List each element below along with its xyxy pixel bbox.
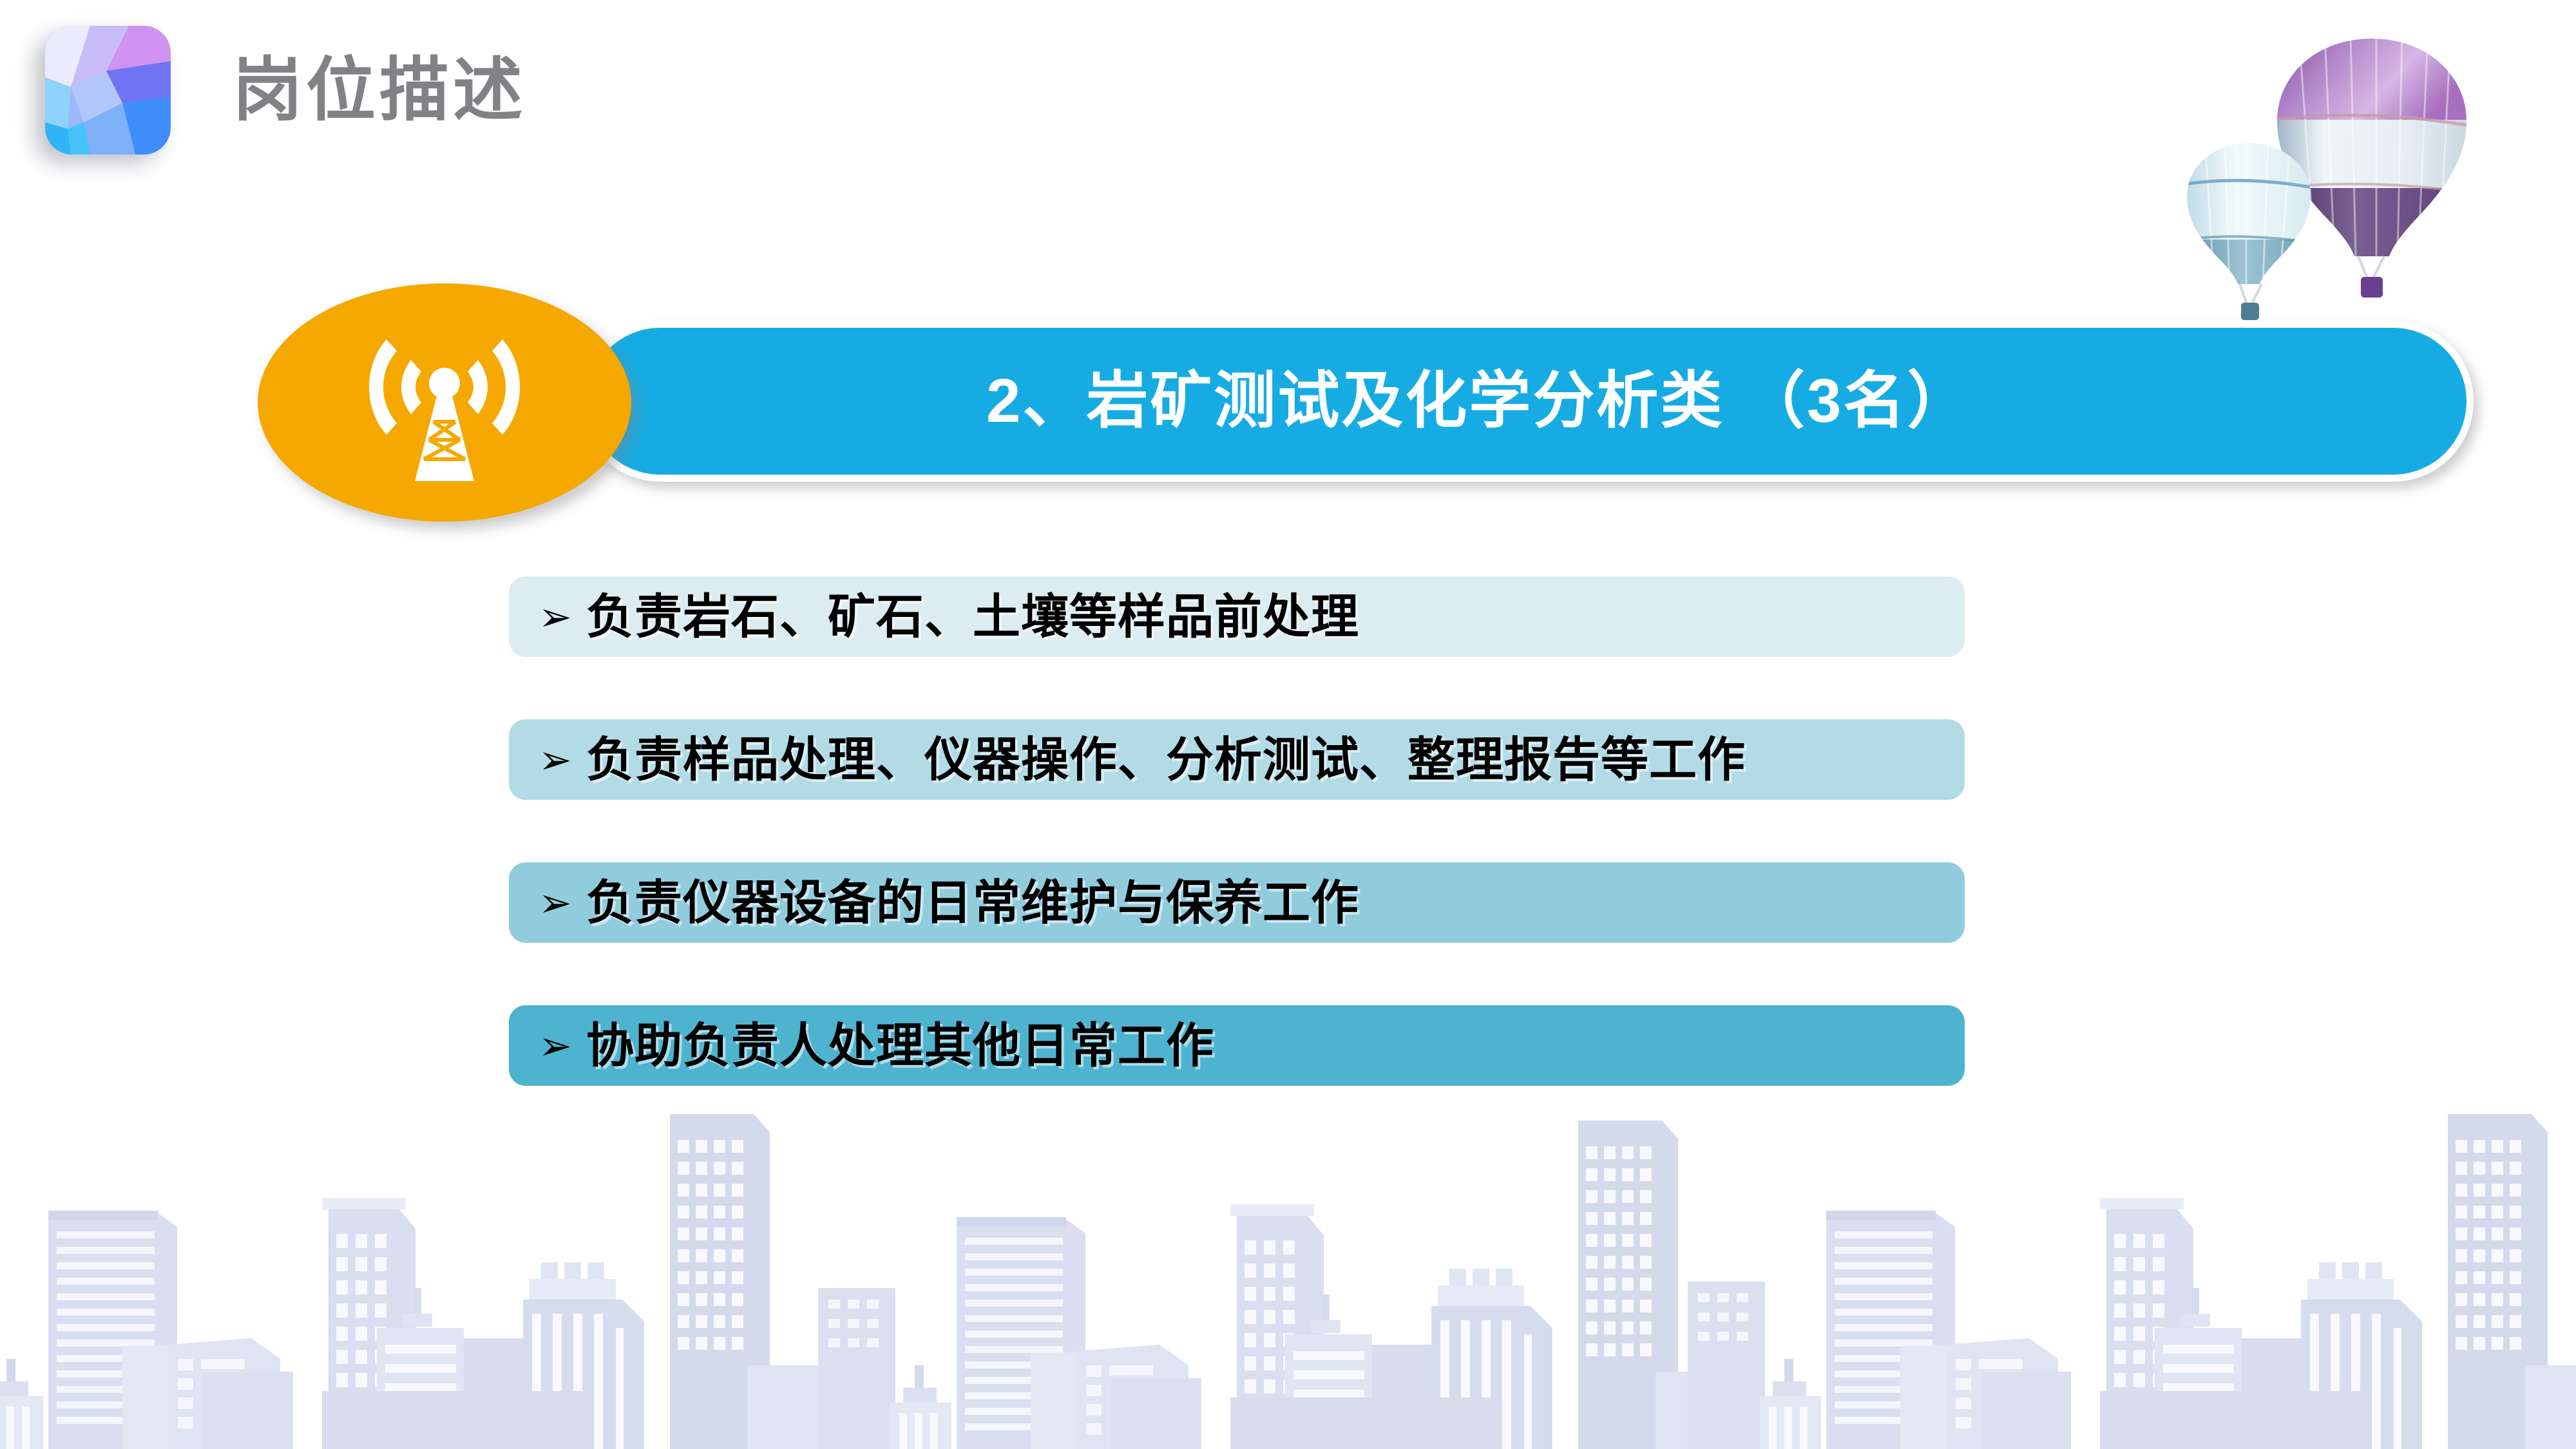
banner-bar[interactable]: 2、岩矿测试及化学分析类 （3名） <box>580 321 2474 482</box>
bullet-arrow-icon: ➢ <box>524 1026 586 1066</box>
list-item[interactable]: ➢ 协助负责人处理其他日常工作 <box>509 1005 1965 1086</box>
list-item[interactable]: ➢ 负责仪器设备的日常维护与保养工作 <box>509 862 1965 943</box>
slide-header: 岗位描述 <box>45 26 526 155</box>
page-title: 岗位描述 <box>233 55 526 125</box>
banner-title: 2、岩矿测试及化学分析类 （3名） <box>986 370 1970 432</box>
list-item-label: 协助负责人处理其他日常工作 <box>586 1022 1214 1070</box>
bullet-arrow-icon: ➢ <box>524 740 586 780</box>
list-item[interactable]: ➢ 负责样品处理、仪器操作、分析测试、整理报告等工作 <box>509 719 1965 800</box>
banner-badge <box>258 283 631 522</box>
list-item-label: 负责岩石、矿石、土壤等样品前处理 <box>586 593 1359 641</box>
broadcast-tower-icon <box>348 306 541 499</box>
list-item-label: 负责仪器设备的日常维护与保养工作 <box>586 879 1359 927</box>
list-item-label: 负责样品处理、仪器操作、分析测试、整理报告等工作 <box>586 736 1746 784</box>
city-skyline-icon <box>0 1088 2576 1449</box>
bullet-arrow-icon: ➢ <box>524 883 586 923</box>
bullet-list: ➢ 负责岩石、矿石、土壤等样品前处理 ➢ 负责样品处理、仪器操作、分析测试、整理… <box>509 576 1965 1086</box>
bullet-arrow-icon: ➢ <box>524 597 586 637</box>
list-item[interactable]: ➢ 负责岩石、矿石、土壤等样品前处理 <box>509 576 1965 657</box>
section-banner: 2、岩矿测试及化学分析类 （3名） <box>258 283 2261 522</box>
slide-canvas: 岗位描述 <box>0 0 2576 1449</box>
gradient-polygon-app-icon <box>45 26 171 155</box>
